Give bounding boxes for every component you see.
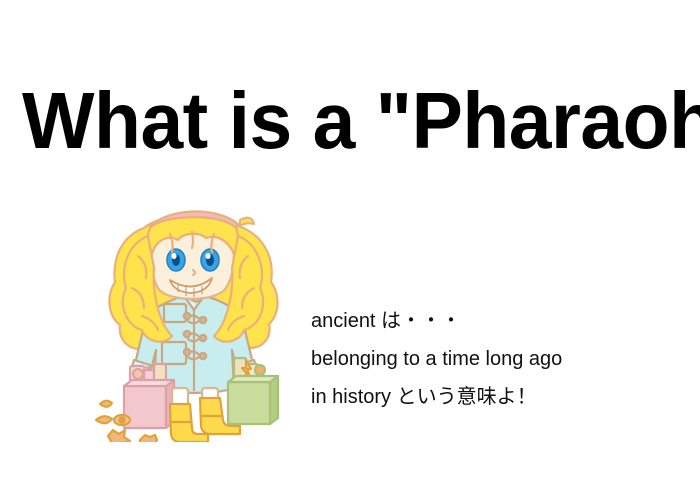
green-shopping-bag <box>228 358 278 424</box>
explanation-line-1: ancient は・・・ <box>311 302 681 340</box>
explanation-line-2: belonging to a time long ago <box>311 340 681 378</box>
explanation-line-3: in history という意味よ！ <box>311 378 681 416</box>
explanation-text-block: ancient は・・・ belonging to a time long ag… <box>311 302 681 416</box>
page-title: What is a "Pharaoh"? <box>22 78 659 164</box>
cartoon-girl-graphic: .ol { stroke:#E0B48C; stroke-width:2.2; … <box>88 192 298 442</box>
cartoon-girl-illustration: .ol { stroke:#E0B48C; stroke-width:2.2; … <box>88 192 298 442</box>
slide-canvas: What is a "Pharaoh"? .ol { stroke:#E0B48… <box>0 0 700 500</box>
pink-shopping-bag <box>124 364 174 428</box>
